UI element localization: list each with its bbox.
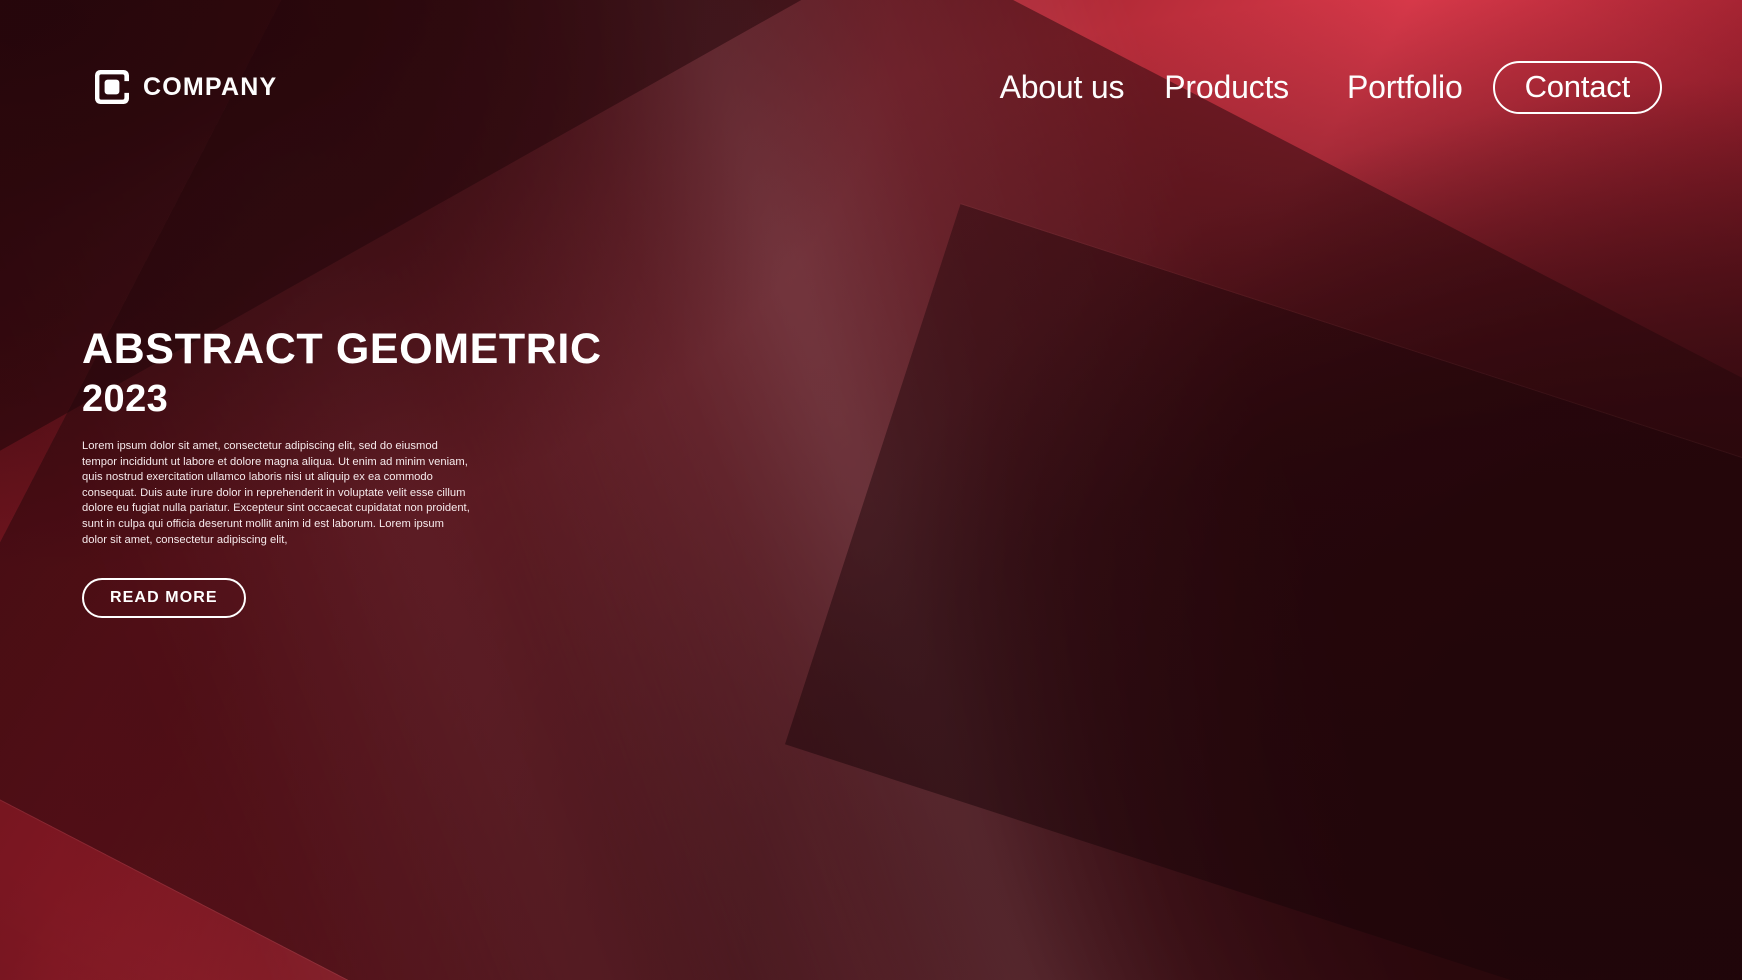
hero-description: Lorem ipsum dolor sit amet, consectetur … (82, 439, 470, 548)
company-square-logo-icon (95, 70, 129, 104)
page-content: COMPANY About us Products Portfolio Cont… (0, 0, 1742, 980)
nav-item-portfolio[interactable]: Portfolio (1347, 69, 1463, 106)
brand-name-label: COMPANY (143, 73, 277, 102)
hero-title: ABSTRACT GEOMETRIC (82, 325, 602, 373)
hero-section: ABSTRACT GEOMETRIC 2023 Lorem ipsum dolo… (82, 325, 602, 618)
nav-item-about-us[interactable]: About us (1000, 69, 1125, 106)
brand-logo[interactable]: COMPANY (95, 70, 277, 104)
contact-button[interactable]: Contact (1493, 61, 1662, 114)
main-navigation: About us Products Portfolio Contact (1000, 61, 1662, 114)
nav-item-products[interactable]: Products (1164, 69, 1289, 106)
hero-year-label: 2023 (82, 379, 602, 421)
read-more-button[interactable]: READ MORE (82, 578, 246, 618)
hero-landing-page: COMPANY About us Products Portfolio Cont… (0, 0, 1742, 980)
site-header: COMPANY About us Products Portfolio Cont… (95, 58, 1662, 116)
